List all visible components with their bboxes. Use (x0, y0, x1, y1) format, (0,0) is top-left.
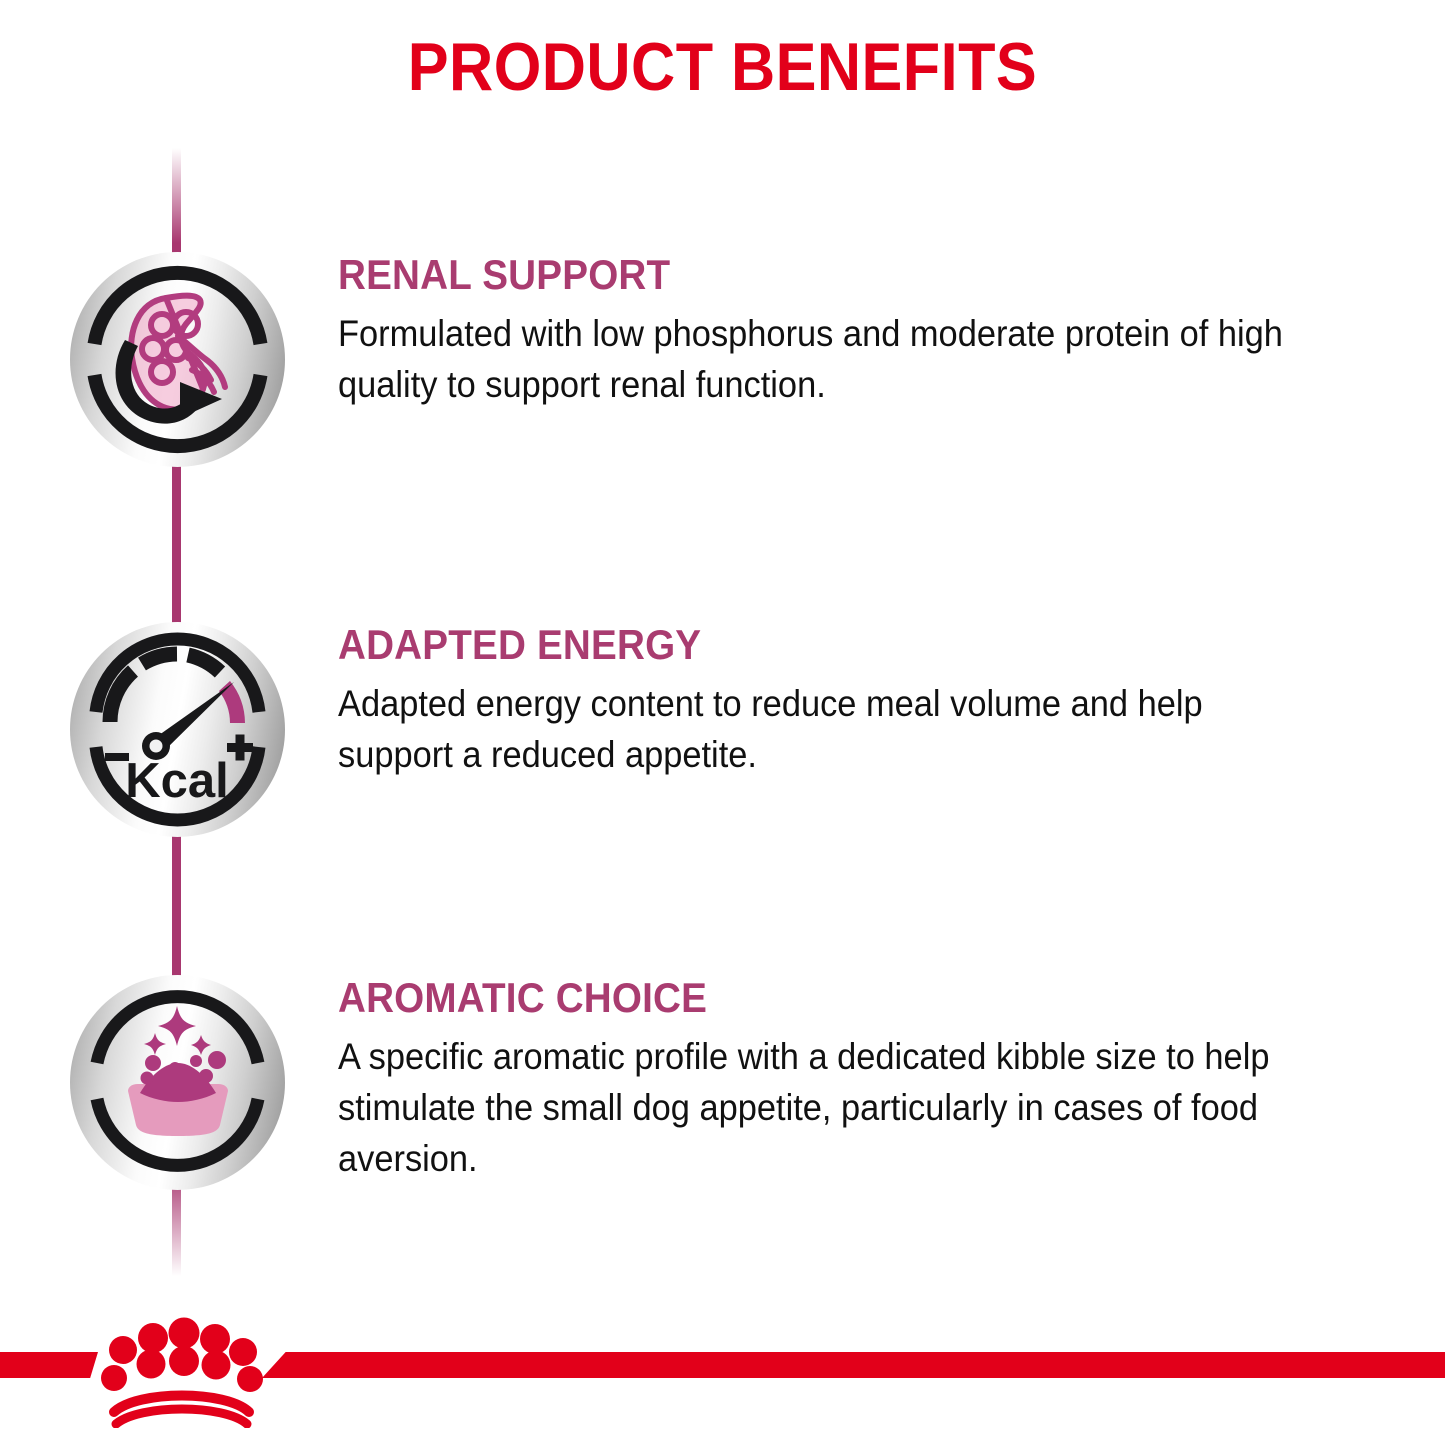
benefit-body: A specific aromatic profile with a dedic… (338, 1031, 1324, 1184)
benefit-heading: ADAPTED ENERGY (338, 622, 1313, 668)
page-title: PRODUCT BENEFITS (72, 28, 1373, 106)
benefit-text-block: RENAL SUPPORT Formulated with low phosph… (338, 252, 1398, 410)
royal-canin-crown-logo (96, 1316, 266, 1428)
product-benefits-panel: PRODUCT BENEFITS (0, 0, 1445, 1445)
footer-bar-right (262, 1352, 1445, 1378)
footer-bar-left (0, 1352, 98, 1378)
aroma-food-bowl-icon (70, 975, 285, 1190)
kcal-gauge-icon: Kcal (70, 622, 285, 837)
benefit-body: Adapted energy content to reduce meal vo… (338, 678, 1324, 780)
kcal-label: Kcal (125, 754, 229, 808)
benefit-text-block: ADAPTED ENERGY Adapted energy content to… (338, 622, 1398, 780)
benefit-text-block: AROMATIC CHOICE A specific aromatic prof… (338, 975, 1398, 1184)
benefit-heading: AROMATIC CHOICE (338, 975, 1313, 1021)
benefit-heading: RENAL SUPPORT (338, 252, 1313, 298)
benefit-body: Formulated with low phosphorus and moder… (338, 308, 1324, 410)
kidney-renal-icon (70, 252, 285, 467)
